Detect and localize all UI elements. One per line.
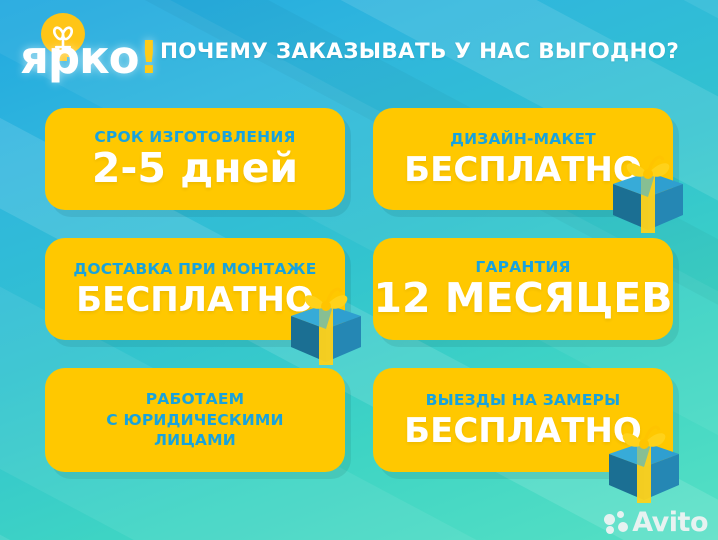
benefit-value: БЕСПЛАТНО: [404, 414, 642, 448]
avito-dot: [604, 514, 615, 525]
avito-dot: [618, 522, 628, 532]
benefits-row-2: ДОСТАВКА ПРИ МОНТАЖЕ БЕСПЛАТНО ГАРАНТИЯ …: [45, 238, 673, 340]
avito-dots-icon: [604, 511, 630, 535]
avito-dot: [606, 526, 614, 534]
benefits-row-3: РАБОТАЕМ С ЮРИДИЧЕСКИМИ ЛИЦАМИ ВЫЕЗДЫ НА…: [45, 368, 673, 472]
brand-logo-text: ярко!: [20, 35, 158, 80]
benefit-subtitle: ДОСТАВКА ПРИ МОНТАЖЕ: [73, 261, 316, 278]
benefits-grid: СРОК ИЗГОТОВЛЕНИЯ 2-5 дней ДИЗАЙН-МАКЕТ …: [45, 108, 673, 472]
avito-dot: [617, 511, 624, 518]
brand-name: ярко: [20, 31, 139, 84]
benefit-subtitle: ДИЗАЙН-МАКЕТ: [450, 131, 596, 148]
benefit-subtitle-line-1: РАБОТАЕМ: [106, 389, 283, 410]
benefit-card-legal-entities: РАБОТАЕМ С ЮРИДИЧЕСКИМИ ЛИЦАМИ: [45, 368, 345, 472]
benefit-value: 2-5 дней: [92, 148, 298, 189]
benefit-subtitle: РАБОТАЕМ С ЮРИДИЧЕСКИМИ ЛИЦАМИ: [106, 389, 283, 452]
benefit-value: БЕСПЛАТНО: [76, 283, 314, 317]
benefit-value: 12 МЕСЯЦЕВ: [373, 278, 672, 319]
benefit-subtitle-line-2: С ЮРИДИЧЕСКИМИ: [106, 410, 283, 431]
brand-exclaim: !: [139, 31, 159, 84]
benefit-value: БЕСПЛАТНО: [404, 153, 642, 187]
benefits-row-1: СРОК ИЗГОТОВЛЕНИЯ 2-5 дней ДИЗАЙН-МАКЕТ …: [45, 108, 673, 210]
benefit-subtitle: ВЫЕЗДЫ НА ЗАМЕРЫ: [426, 392, 621, 409]
poster-header: ярко! ПОЧЕМУ ЗАКАЗЫВАТЬ У НАС ВЫГОДНО?: [0, 0, 718, 96]
avito-label: Avito: [632, 509, 708, 536]
promo-poster: ярко! ПОЧЕМУ ЗАКАЗЫВАТЬ У НАС ВЫГОДНО? С…: [0, 0, 718, 540]
headline: ПОЧЕМУ ЗАКАЗЫВАТЬ У НАС ВЫГОДНО?: [160, 39, 679, 64]
benefit-card-delivery: ДОСТАВКА ПРИ МОНТАЖЕ БЕСПЛАТНО: [45, 238, 345, 340]
benefit-subtitle-line-3: ЛИЦАМИ: [106, 430, 283, 451]
benefit-card-production-time: СРОК ИЗГОТОВЛЕНИЯ 2-5 дней: [45, 108, 345, 210]
brand-logo: ярко!: [14, 13, 154, 83]
benefit-card-warranty: ГАРАНТИЯ 12 МЕСЯЦЕВ: [373, 238, 673, 340]
benefit-card-design-mockup: ДИЗАЙН-МАКЕТ БЕСПЛАТНО: [373, 108, 673, 210]
avito-watermark: Avito: [604, 509, 708, 536]
benefit-card-measurement-visit: ВЫЕЗДЫ НА ЗАМЕРЫ БЕСПЛАТНО: [373, 368, 673, 472]
